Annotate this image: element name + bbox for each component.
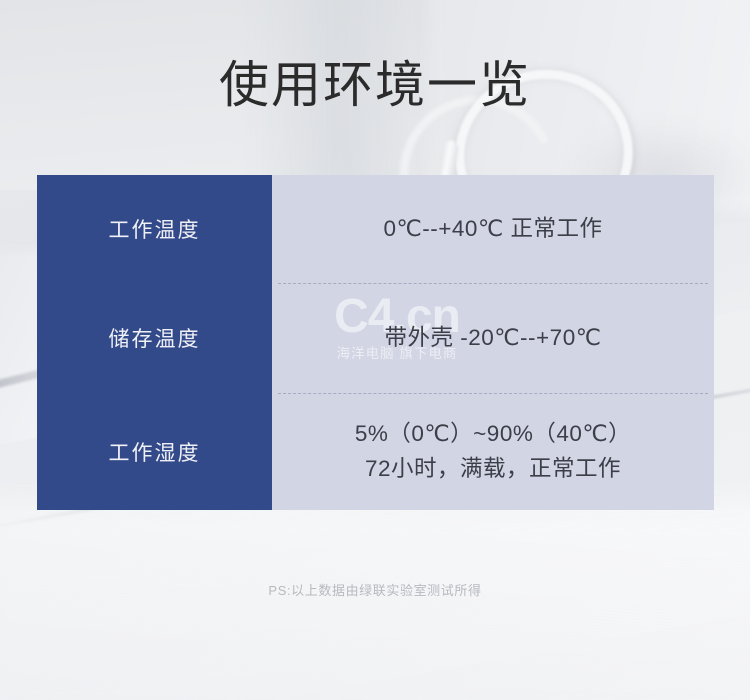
row-divider-1 (278, 283, 708, 284)
spec-label-column: 工作温度 储存温度 工作湿度 (37, 175, 272, 510)
spec-label-storage-temperature: 储存温度 (109, 323, 201, 353)
row-divider-2 (278, 393, 708, 394)
spec-table: 工作温度 储存温度 工作湿度 C4.cn 海洋电脑 旗下电商 0℃--+40℃ … (37, 175, 714, 510)
footnote: PS:以上数据由绿联实验室测试所得 (0, 580, 750, 599)
spec-value-storage-temperature: 带外壳 -20℃--+70℃ (385, 321, 602, 356)
page-title: 使用环境一览 (0, 56, 750, 115)
spec-value-line-1: 带外壳 -20℃--+70℃ (385, 325, 602, 350)
table-row: 5%（0℃）~90%（40℃） 72小时，满载，正常工作 (272, 393, 714, 510)
table-row: 带外壳 -20℃--+70℃ (272, 283, 714, 393)
background-desk-highlight (0, 500, 750, 700)
spec-value-line-2: 72小时，满载，正常工作 (355, 452, 631, 487)
spec-value-column: C4.cn 海洋电脑 旗下电商 0℃--+40℃ 正常工作 带外壳 -20℃--… (272, 175, 714, 510)
spec-value-line-1: 5%（0℃）~90%（40℃） (355, 421, 631, 446)
table-row: 储存温度 (37, 283, 272, 393)
table-row: 0℃--+40℃ 正常工作 (272, 175, 714, 283)
product-spec-page: 使用环境一览 工作温度 储存温度 工作湿度 C4.cn 海洋电脑 旗下电商 0℃… (0, 0, 750, 700)
table-row: 工作湿度 (37, 393, 272, 510)
spec-label-working-temperature: 工作温度 (109, 214, 201, 244)
spec-label-working-humidity: 工作湿度 (109, 437, 201, 467)
spec-value-line-1: 0℃--+40℃ 正常工作 (384, 216, 603, 241)
spec-value-working-humidity: 5%（0℃）~90%（40℃） 72小时，满载，正常工作 (355, 417, 631, 487)
table-row: 工作温度 (37, 175, 272, 283)
spec-value-working-temperature: 0℃--+40℃ 正常工作 (384, 212, 603, 247)
